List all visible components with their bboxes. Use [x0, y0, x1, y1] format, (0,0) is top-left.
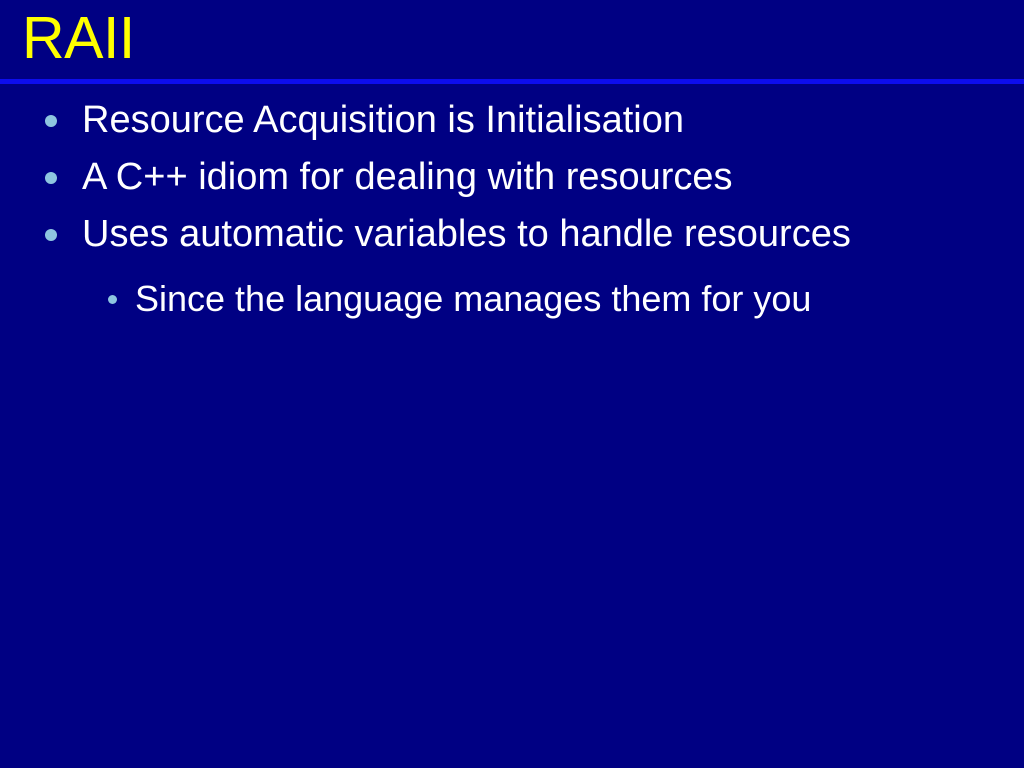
bullet-dot-icon [45, 229, 57, 241]
presentation-slide: RAII Resource Acquisition is Initialisat… [0, 0, 1024, 768]
bullet-item-1: Resource Acquisition is Initialisation [0, 92, 1024, 149]
bullet-dot-icon [45, 172, 57, 184]
slide-body-bullet-list: Resource Acquisition is Initialisation A… [0, 92, 1024, 327]
bullet-item-3-text: Uses automatic variables to handle resou… [82, 206, 864, 263]
slide-title: RAII [22, 2, 1002, 76]
bullet-item-2-text: A C++ idiom for dealing with resources [82, 149, 994, 206]
sub-bullet-item-1-text: Since the language manages them for you [135, 271, 964, 327]
bullet-dot-icon [108, 295, 117, 304]
bullet-dot-icon [45, 115, 57, 127]
bullet-item-2: A C++ idiom for dealing with resources [0, 149, 1024, 206]
sub-bullet-item-1: Since the language manages them for you [0, 271, 1024, 327]
bullet-item-1-text: Resource Acquisition is Initialisation [82, 92, 994, 149]
title-divider-rule [0, 79, 1024, 84]
bullet-item-3: Uses automatic variables to handle resou… [0, 206, 1024, 263]
